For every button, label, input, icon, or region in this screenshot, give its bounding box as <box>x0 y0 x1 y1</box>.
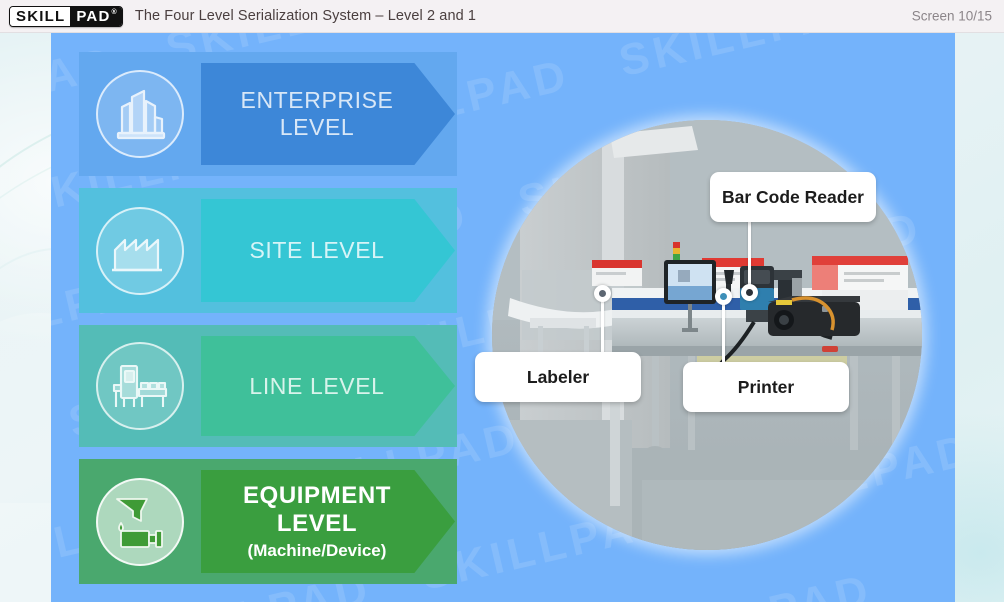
serialization-levels-list: ENTERPRISE LEVEL SITE LEVEL <box>79 52 457 582</box>
registered-mark-icon: ® <box>112 9 118 16</box>
level-row-site[interactable]: SITE LEVEL <box>79 188 457 313</box>
level-label-enterprise: ENTERPRISE LEVEL <box>201 87 433 141</box>
level-icon-circle-enterprise <box>96 70 184 158</box>
marker-dot-printer[interactable] <box>715 288 732 305</box>
level-icon-wrap-site <box>79 188 201 313</box>
skillpad-logo: SKILL PAD ® <box>9 6 123 27</box>
logo-pad-label: PAD <box>76 8 110 25</box>
marker-dot-barcode[interactable] <box>741 284 758 301</box>
level-icon-circle-equipment <box>96 478 184 566</box>
level-icon-circle-site <box>96 207 184 295</box>
callout-labeler[interactable]: Labeler <box>475 352 641 402</box>
level-row-equipment[interactable]: EQUIPMENT LEVEL (Machine/Device) <box>79 459 457 584</box>
level-arrow-site: SITE LEVEL <box>201 199 455 302</box>
page-title: The Four Level Serialization System – Le… <box>135 8 476 24</box>
logo-skill-text: SKILL <box>10 7 70 26</box>
logo-pad-text: PAD ® <box>70 7 122 26</box>
level-icon-wrap-line <box>79 325 201 447</box>
leader-line-printer <box>722 300 725 364</box>
watermark-text: SKILLPAD <box>616 565 877 602</box>
slide-root: SKILL PAD ® The Four Level Serialization… <box>0 0 1004 602</box>
screen-counter: Screen 10/15 <box>912 9 992 24</box>
level-arrow-line: LINE LEVEL <box>201 336 455 436</box>
level-icon-circle-line <box>96 342 184 430</box>
callout-printer[interactable]: Printer <box>683 362 849 412</box>
level-arrow-enterprise: ENTERPRISE LEVEL <box>201 63 455 165</box>
level-sublabel-equipment: (Machine/Device) <box>248 541 387 561</box>
level-arrow-equipment: EQUIPMENT LEVEL (Machine/Device) <box>201 470 455 573</box>
marker-dot-labeler[interactable] <box>594 285 611 302</box>
filling-machine-icon <box>107 491 173 553</box>
level-row-line[interactable]: LINE LEVEL <box>79 325 457 447</box>
leader-line-labeler <box>601 298 604 354</box>
leader-line-barcode <box>748 220 751 292</box>
factory-icon <box>109 226 171 276</box>
watermark-text: SKILLPAD <box>615 33 876 87</box>
office-buildings-icon <box>110 85 170 143</box>
level-icon-wrap-equipment <box>79 459 201 584</box>
level-row-enterprise[interactable]: ENTERPRISE LEVEL <box>79 52 457 176</box>
callout-bar-code-reader[interactable]: Bar Code Reader <box>710 172 876 222</box>
level-label-site: SITE LEVEL <box>249 237 384 264</box>
conveyor-line-icon <box>108 358 172 414</box>
level-label-equipment: EQUIPMENT LEVEL <box>201 482 433 538</box>
level-label-line: LINE LEVEL <box>249 373 384 400</box>
header-bar: SKILL PAD ® The Four Level Serialization… <box>0 0 1004 33</box>
level-icon-wrap-enterprise <box>79 52 201 176</box>
